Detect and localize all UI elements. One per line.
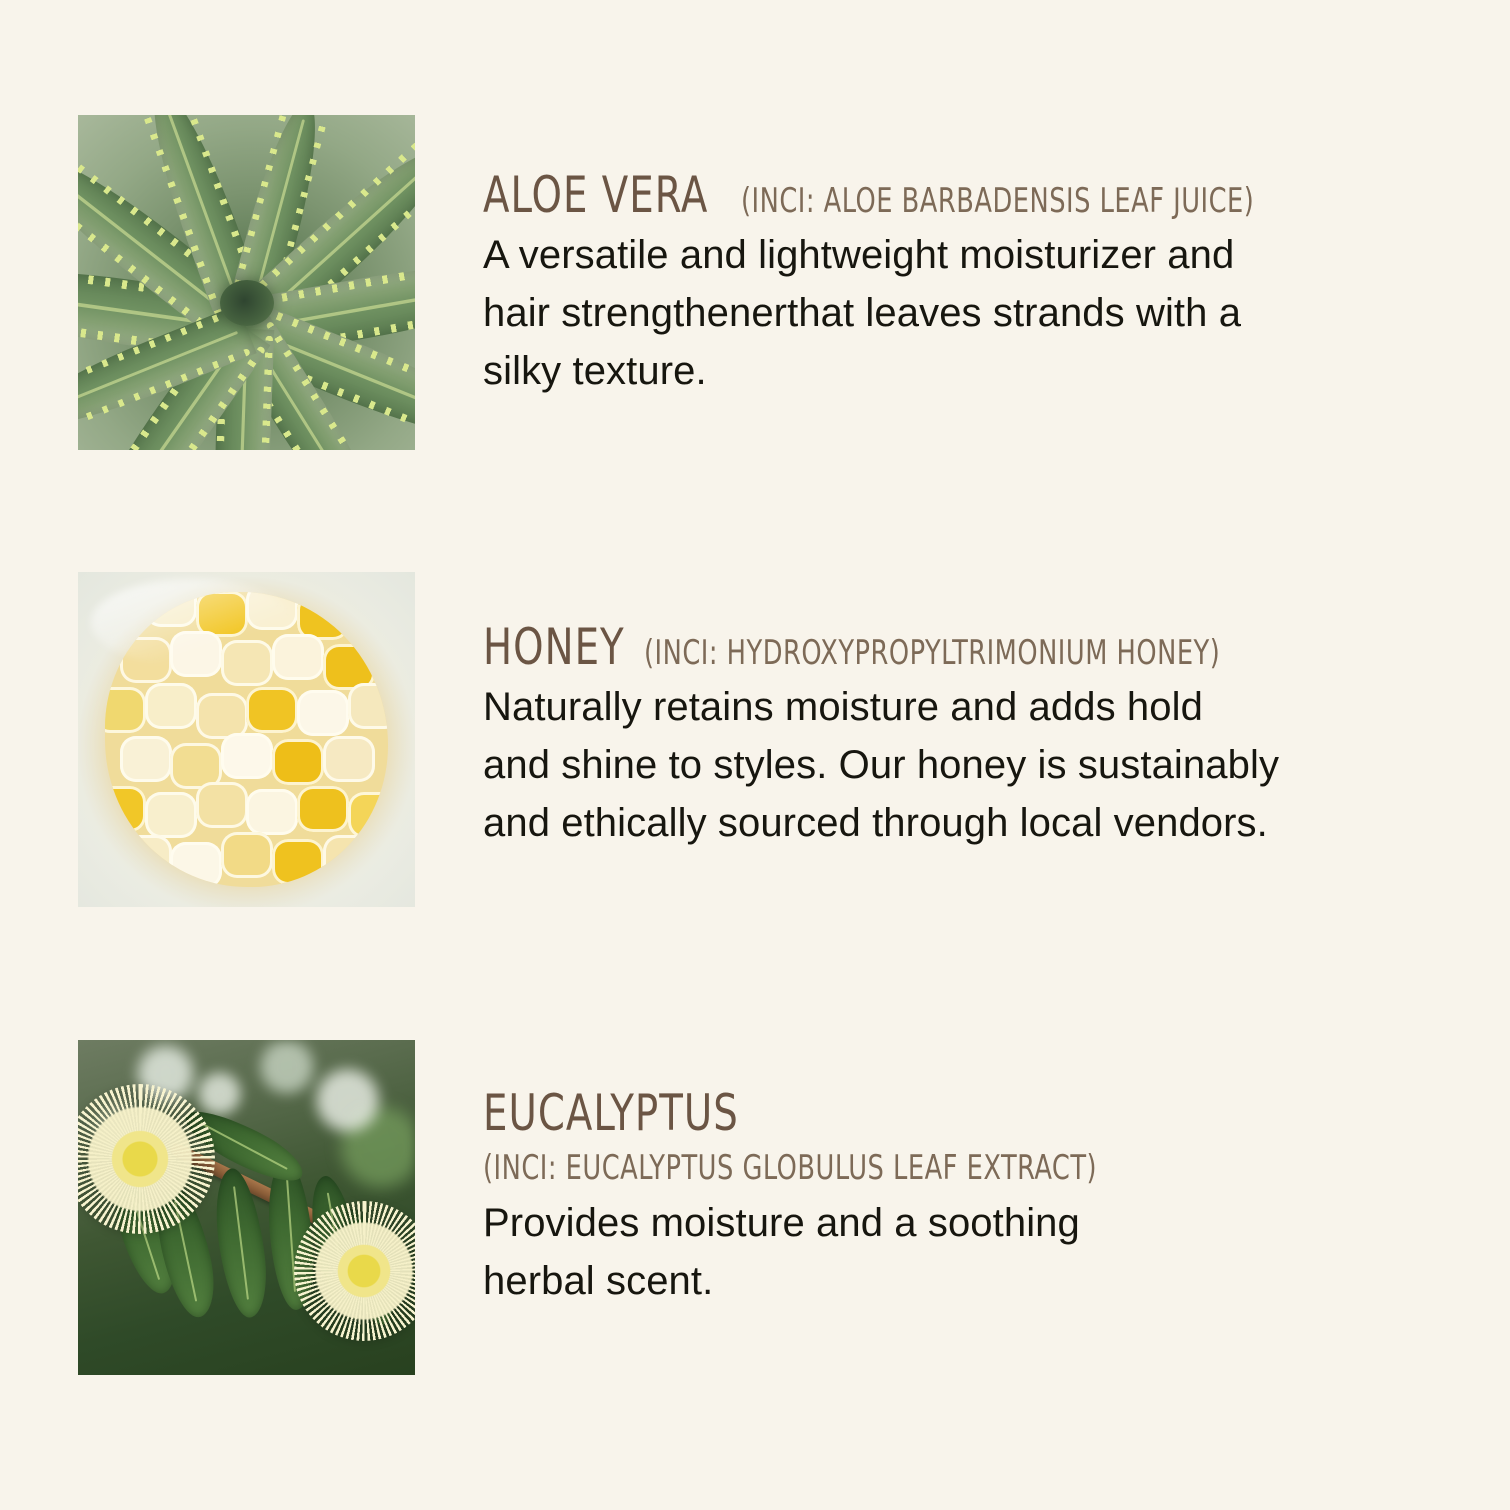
ingredient-row-honey: HONEY(INCI: HYDROXYPROPYLTRIMONIUM HONEY… (0, 572, 1510, 907)
description-line: herbal scent. (483, 1252, 1433, 1310)
aloe-vera-heading: ALOE VERA(INCI: ALOE BARBADENSIS LEAF JU… (483, 170, 1450, 220)
description-line: silky texture. (483, 342, 1433, 400)
eucalyptus-description: Provides moisture and a soothing herbal … (483, 1194, 1433, 1310)
ingredient-row-aloe-vera: ALOE VERA(INCI: ALOE BARBADENSIS LEAF JU… (0, 115, 1510, 450)
ingredient-name: HONEY (483, 622, 625, 672)
ingredient-name: ALOE VERA (483, 170, 708, 220)
eucalyptus-illustration (78, 1040, 415, 1375)
honey-image (78, 572, 415, 907)
eucalyptus-copy: EUCALYPTUS (INCI: EUCALYPTUS GLOBULUS LE… (483, 1040, 1510, 1310)
honeycomb-illustration (78, 572, 415, 907)
ingredient-inci: (INCI: EUCALYPTUS GLOBULUS LEAF EXTRACT) (483, 1148, 1097, 1188)
description-line: Naturally retains moisture and adds hold (483, 678, 1433, 736)
description-line: and ethically sourced through local vend… (483, 794, 1433, 852)
description-line: Provides moisture and a soothing (483, 1194, 1433, 1252)
ingredient-name: EUCALYPTUS (483, 1088, 739, 1138)
description-line: hair strengthenerthat leaves strands wit… (483, 284, 1433, 342)
ingredient-row-eucalyptus: EUCALYPTUS (INCI: EUCALYPTUS GLOBULUS LE… (0, 1040, 1510, 1375)
eucalyptus-image (78, 1040, 415, 1375)
aloe-vera-copy: ALOE VERA(INCI: ALOE BARBADENSIS LEAF JU… (483, 115, 1510, 400)
honey-description: Naturally retains moisture and adds hold… (483, 678, 1433, 852)
description-line: and shine to styles. Our honey is sustai… (483, 736, 1433, 794)
ingredient-inci: (INCI: ALOE BARBADENSIS LEAF JUICE) (741, 184, 1254, 218)
eucalyptus-inci-line: (INCI: EUCALYPTUS GLOBULUS LEAF EXTRACT) (483, 1148, 1450, 1188)
ingredient-list-page: ALOE VERA(INCI: ALOE BARBADENSIS LEAF JU… (0, 0, 1510, 1510)
ingredient-inci: (INCI: HYDROXYPROPYLTRIMONIUM HONEY) (644, 636, 1220, 670)
eucalyptus-heading: EUCALYPTUS (483, 1088, 1450, 1138)
honey-copy: HONEY(INCI: HYDROXYPROPYLTRIMONIUM HONEY… (483, 572, 1510, 852)
aloe-vera-illustration (78, 115, 415, 450)
description-line: A versatile and lightweight moisturizer … (483, 226, 1433, 284)
aloe-vera-description: A versatile and lightweight moisturizer … (483, 226, 1433, 400)
aloe-vera-image (78, 115, 415, 450)
honey-heading: HONEY(INCI: HYDROXYPROPYLTRIMONIUM HONEY… (483, 622, 1450, 672)
